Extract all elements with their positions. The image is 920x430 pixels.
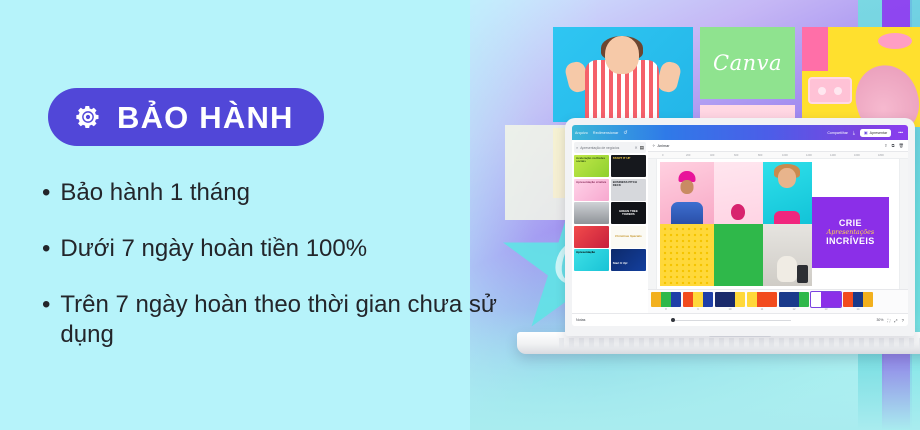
collage-card-flatlay xyxy=(802,27,920,127)
canvas-ruler: 020040060080010001200140016001800 xyxy=(648,152,908,159)
collage-card-thumbsup xyxy=(553,27,693,122)
photo-body xyxy=(671,202,703,224)
slide-number: 11 xyxy=(747,308,777,311)
laptop-keyboard xyxy=(559,338,920,348)
template-thumbnail[interactable]: Apresentação xyxy=(574,249,609,271)
canva-body: ⌕ Apresentação de negócios ✕ ▤ Aceleraçã… xyxy=(572,140,908,313)
slide-color-block xyxy=(715,292,725,307)
flatlay-pineapple xyxy=(847,57,920,127)
template-thumbnail[interactable]: Aceleração na Redes sociais xyxy=(574,155,609,177)
photo-cell-6[interactable] xyxy=(763,224,812,286)
photo-vase xyxy=(731,204,745,220)
delete-icon[interactable]: 🗑 xyxy=(899,143,904,149)
slide-color-block xyxy=(757,292,767,307)
flatlay-strip xyxy=(802,27,828,71)
slide-color-block xyxy=(683,292,693,307)
filmstrip-slide[interactable]: 9 xyxy=(683,292,713,311)
canva-element-toolbar: ✧ Animar ⇪ ⧉ 🗑 xyxy=(648,140,908,152)
zoom-slider[interactable] xyxy=(671,318,791,322)
photo-cell-2[interactable] xyxy=(714,162,763,224)
ruler-tick: 1600 xyxy=(854,154,878,157)
search-input-value[interactable]: Apresentação de negócios xyxy=(580,146,632,150)
template-grid: Aceleração na Redes sociaisSTART IT UPAp… xyxy=(572,155,648,313)
notes-button[interactable]: Notas xyxy=(576,318,585,322)
search-icon: ⌕ xyxy=(576,145,578,150)
slide-thumbnail xyxy=(843,292,873,307)
slide-thumbnail xyxy=(651,292,681,307)
slide-color-block xyxy=(811,292,821,307)
slide-thumbnail xyxy=(779,292,809,307)
canva-wordmark: Canva xyxy=(713,51,782,75)
download-icon[interactable]: ⤓ xyxy=(853,130,855,135)
animate-icon: ✧ xyxy=(652,143,656,148)
slide-number: 13 xyxy=(811,308,841,311)
help-icon[interactable]: ? xyxy=(902,318,904,323)
template-title: BUSINESS PITCH DECK xyxy=(613,181,644,188)
warranty-badge-label: BẢO HÀNH xyxy=(117,102,294,133)
slide-color-block xyxy=(853,292,863,307)
slide-color-block xyxy=(651,292,661,307)
photo-top xyxy=(774,211,800,224)
canvas-right-rail xyxy=(899,159,908,289)
toolbar-actions: ⇪ ⧉ 🗑 xyxy=(884,143,904,149)
template-title: Start It Up! xyxy=(613,262,644,265)
ruler-tick: 1000 xyxy=(782,154,806,157)
collage-card-canva-logo: Canva xyxy=(700,27,795,99)
photo-cell-5[interactable] xyxy=(714,224,763,286)
bullet-text: Bảo hành 1 tháng xyxy=(60,178,522,208)
photo-face xyxy=(778,168,796,188)
ruler-tick: 1200 xyxy=(806,154,830,157)
pattern-dots xyxy=(662,226,712,284)
slide-number: 9 xyxy=(683,308,713,311)
slide-color-block xyxy=(693,292,703,307)
slide-color-block xyxy=(831,292,841,307)
animate-label: Animar xyxy=(658,144,670,148)
template-title: GREEN TREE TOWERS xyxy=(613,210,644,217)
canvas-wrapper: CRIE Apresentações INCRÍVEIS xyxy=(648,159,908,289)
bottom-bar-actions: ⛶ ⤢ ? xyxy=(887,318,904,323)
photo-cell-1[interactable] xyxy=(660,162,714,224)
promo-banner: Canva C Arquivo Redimensionar ↺ Comparti… xyxy=(0,0,920,430)
template-thumbnail[interactable]: GREEN TREE TOWERS xyxy=(611,202,646,224)
slide-number: 14 xyxy=(843,308,873,311)
laptop-mockup: Arquivo Redimensionar ↺ Compartilhar ⤓ ▣… xyxy=(565,118,915,353)
slide-color-block xyxy=(703,292,713,307)
filmstrip-slide[interactable]: 8 xyxy=(651,292,681,311)
slide-color-block xyxy=(779,292,789,307)
duplicate-icon[interactable]: ⧉ xyxy=(892,143,895,149)
template-thumbnail[interactable] xyxy=(574,226,609,248)
slide-color-block xyxy=(863,292,873,307)
photo-cell-4[interactable] xyxy=(660,224,714,286)
fit-screen-icon[interactable]: ⛶ xyxy=(887,318,890,323)
ruler-tick: 400 xyxy=(710,154,734,157)
gear-icon xyxy=(74,103,102,131)
warranty-bullet-list: •Bảo hành 1 tháng•Dưới 7 ngày hoàn tiền … xyxy=(42,178,522,376)
template-title: Apresentação xyxy=(576,251,607,254)
slide-number: 8 xyxy=(651,308,681,311)
slide-thumbnail xyxy=(747,292,777,307)
canva-editor-main: ✧ Animar ⇪ ⧉ 🗑 0200400600800100012001400… xyxy=(648,140,908,313)
canva-template-sidebar: ⌕ Apresentação de negócios ✕ ▤ Aceleraçã… xyxy=(572,140,648,313)
slide-color-block xyxy=(735,292,745,307)
filmstrip-slide[interactable]: 13 xyxy=(811,292,841,311)
more-menu-icon[interactable]: ••• xyxy=(896,130,905,135)
filmstrip-slide[interactable]: 12 xyxy=(779,292,809,311)
slide-number: 12 xyxy=(779,308,809,311)
filter-icon[interactable]: ▤ xyxy=(640,145,644,151)
share-button[interactable]: Compartilhar xyxy=(827,131,848,135)
flatlay-cassette xyxy=(808,77,852,104)
slide-canvas[interactable]: CRIE Apresentações INCRÍVEIS xyxy=(660,162,889,286)
template-thumbnail[interactable]: Start It Up! xyxy=(611,249,646,271)
slide-thumbnail xyxy=(811,292,841,307)
promo-line-3: INCRÍVEIS xyxy=(826,236,875,246)
clear-search-icon[interactable]: ✕ xyxy=(634,145,637,150)
ruler-tick: 200 xyxy=(686,154,710,157)
bullet-text: Trên 7 ngày hoàn theo thời gian chưa sử … xyxy=(60,290,522,350)
menu-redimensionar[interactable]: Redimensionar xyxy=(593,131,618,135)
bullet-item: •Trên 7 ngày hoàn theo thời gian chưa sử… xyxy=(42,290,522,350)
slide-thumbnail xyxy=(683,292,713,307)
bullet-item: •Dưới 7 ngày hoàn tiền 100% xyxy=(42,234,522,264)
template-title: Aceleração na Redes sociais xyxy=(576,157,607,164)
filmstrip-slide[interactable]: 14 xyxy=(843,292,873,311)
slide-color-block xyxy=(821,292,831,307)
position-icon[interactable]: ⇪ xyxy=(884,143,888,149)
bullet-marker: • xyxy=(42,234,50,264)
slide-filmstrip[interactable]: 891011121314 xyxy=(648,289,908,313)
template-title: Apresentação criativa xyxy=(576,181,607,184)
photo-face xyxy=(681,180,694,194)
bullet-text: Dưới 7 ngày hoàn tiền 100% xyxy=(60,234,522,264)
ruler-tick: 0 xyxy=(662,154,686,157)
laptop-screen: Arquivo Redimensionar ↺ Compartilhar ⤓ ▣… xyxy=(572,125,908,326)
person-head xyxy=(605,36,639,74)
photo-cell-3[interactable] xyxy=(763,162,812,224)
present-button[interactable]: ▣ Apresentar xyxy=(860,129,891,137)
slide-color-block xyxy=(671,292,681,307)
canvas-page-area[interactable]: CRIE Apresentações INCRÍVEIS xyxy=(657,159,899,289)
zoom-slider-track[interactable] xyxy=(675,320,791,321)
template-title: Christmas Specials xyxy=(613,235,644,238)
ruler-tick: 800 xyxy=(758,154,782,157)
laptop-lid: Arquivo Redimensionar ↺ Compartilhar ⤓ ▣… xyxy=(565,118,915,336)
slide-thumbnail xyxy=(715,292,745,307)
template-thumbnail[interactable]: Apresentação criativa xyxy=(574,179,609,201)
slide-color-block xyxy=(767,292,777,307)
slide-color-block xyxy=(661,292,671,307)
ruler-tick: 600 xyxy=(734,154,758,157)
zoom-level-label: 30% xyxy=(877,318,884,322)
template-thumbnail[interactable] xyxy=(574,202,609,224)
template-search-field[interactable]: ⌕ Apresentação de negócios ✕ ▤ xyxy=(574,142,646,153)
filmstrip-slide[interactable]: 10 xyxy=(715,292,745,311)
template-title: START IT UP xyxy=(613,157,644,160)
slide-color-block xyxy=(747,292,757,307)
present-icon: ▣ xyxy=(864,130,868,135)
warranty-badge: BẢO HÀNH xyxy=(48,88,324,146)
slide-color-block xyxy=(789,292,799,307)
slide-color-block xyxy=(799,292,809,307)
undo-icon[interactable]: ↺ xyxy=(623,130,627,136)
fullscreen-icon[interactable]: ⤢ xyxy=(894,318,897,323)
slide-color-block xyxy=(725,292,735,307)
template-thumbnail[interactable]: BUSINESS PITCH DECK xyxy=(611,179,646,201)
canva-topbar: Arquivo Redimensionar ↺ Compartilhar ⤓ ▣… xyxy=(572,125,908,140)
slide-number: 10 xyxy=(715,308,745,311)
promo-text-block[interactable]: CRIE Apresentações INCRÍVEIS xyxy=(812,197,889,269)
flatlay-lips xyxy=(878,33,912,49)
template-thumbnail[interactable]: Christmas Specials xyxy=(611,226,646,248)
bullet-marker: • xyxy=(42,178,50,208)
bullet-item: •Bảo hành 1 tháng xyxy=(42,178,522,208)
filmstrip-slide[interactable]: 11 xyxy=(747,292,777,311)
promo-line-1: CRIE xyxy=(839,218,862,228)
bullet-marker: • xyxy=(42,290,50,350)
template-thumbnail[interactable]: START IT UP xyxy=(611,155,646,177)
canvas-left-rail xyxy=(648,159,657,289)
photo-phone xyxy=(797,265,808,283)
hand-right xyxy=(656,60,683,94)
menu-arquivo[interactable]: Arquivo xyxy=(575,131,588,135)
canva-bottom-bar: Notas 30% ⛶ ⤢ ? xyxy=(572,313,908,326)
ruler-tick: 1800 xyxy=(878,154,902,157)
promo-line-2: Apresentações xyxy=(827,229,875,236)
ruler-tick: 1400 xyxy=(830,154,854,157)
slide-color-block xyxy=(843,292,853,307)
animate-button[interactable]: ✧ Animar xyxy=(652,143,670,148)
present-label: Apresentar xyxy=(870,131,888,135)
photo-dog xyxy=(777,256,797,282)
